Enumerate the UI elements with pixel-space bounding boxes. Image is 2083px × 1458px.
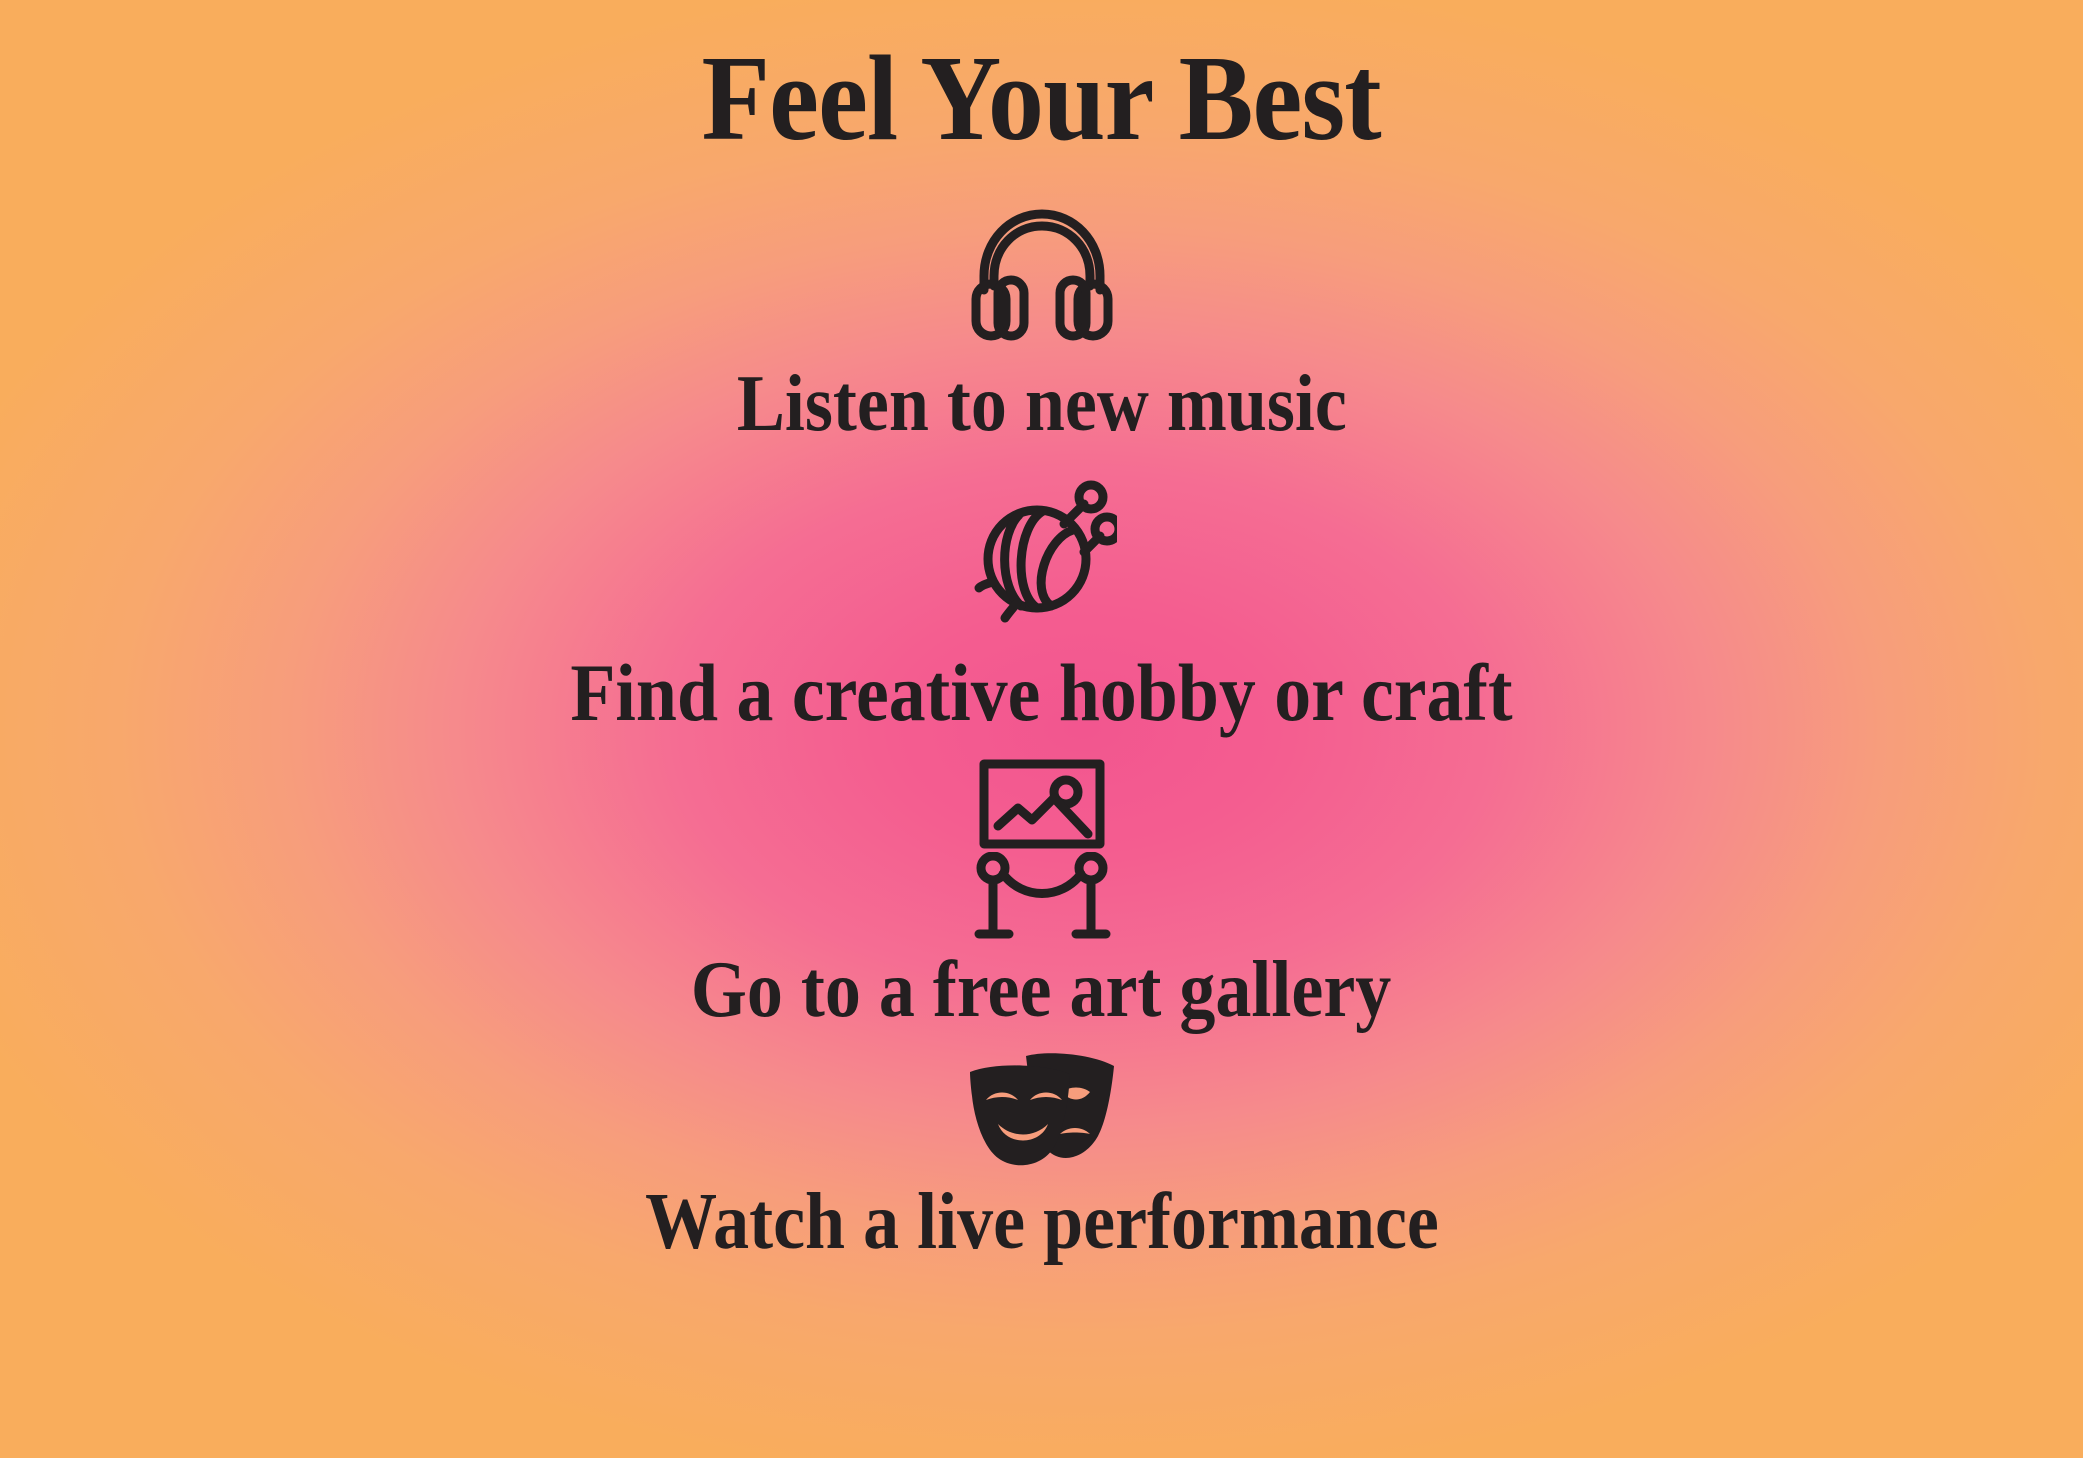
list-item-label: Find a creative hobby or craft [570, 652, 1512, 734]
list-item: Listen to new music [0, 186, 2083, 444]
list-item-label: Watch a live performance [645, 1182, 1439, 1262]
headphones-icon [962, 194, 1122, 344]
yarn-ball-knitting-needles-icon [967, 474, 1117, 624]
framed-picture-icon [976, 754, 1108, 854]
poster-canvas: Feel Your Best Listen to new music [0, 0, 2083, 1458]
list-item-label: Listen to new music [736, 364, 1346, 444]
list-item: Watch a live performance [0, 1030, 2083, 1262]
list-item: Go to a free art gallery [0, 734, 2083, 1030]
activity-list: Listen to new music Find a creative [0, 186, 2083, 1262]
list-item-label: Go to a free art gallery [691, 950, 1391, 1030]
list-item: Find a creative hobby or craft [0, 444, 2083, 734]
theater-masks-icon [964, 1048, 1120, 1172]
page-title: Feel Your Best [702, 38, 1381, 160]
museum-rope-barrier-icon [971, 852, 1113, 944]
